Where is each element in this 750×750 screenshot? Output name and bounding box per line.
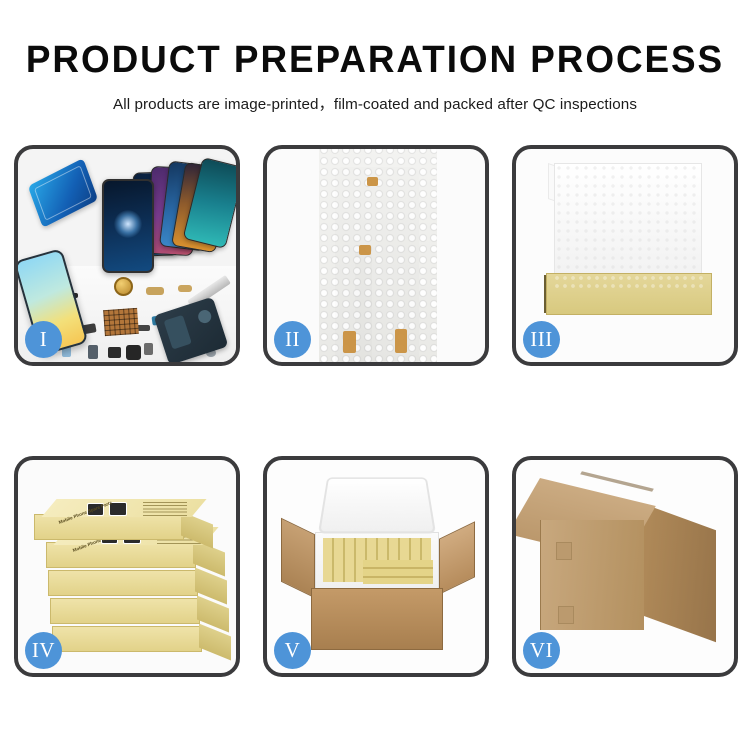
process-step-panel-1: I [14, 145, 240, 366]
spare-part [126, 345, 141, 360]
spare-part [88, 345, 98, 359]
step-badge-2: II [274, 321, 311, 358]
step-badge-4: IV [25, 632, 62, 669]
kraft-inner-box [546, 273, 712, 315]
retail-box [48, 570, 198, 596]
carton-tape-tab [558, 606, 574, 624]
tape-strip [343, 331, 356, 353]
spare-part [144, 343, 153, 355]
process-step-panel-5: V [263, 456, 489, 677]
page-subtitle: All products are image-printed，film-coat… [0, 92, 750, 114]
white-foam-lid [554, 163, 702, 277]
step-badge-6: VI [523, 632, 560, 669]
spare-part [108, 347, 121, 358]
foam-cooler-lid [318, 477, 436, 533]
process-step-panel-2: II [263, 145, 489, 366]
packed-retail-boxes [363, 560, 433, 584]
step-badge-3: III [523, 321, 560, 358]
carton-front-face [540, 520, 644, 630]
blue-protective-film [28, 158, 98, 228]
chip-grid-component [103, 308, 139, 336]
tape-strip [359, 245, 371, 255]
process-step-grid: I II III [14, 145, 738, 677]
tape-strip [367, 177, 378, 186]
retail-box: Mobile Phone Spare Parts [34, 514, 184, 540]
tempered-glass-screen [102, 179, 154, 273]
carton-side-face [644, 504, 716, 642]
process-step-panel-4: Mobile Phone Spare Parts Mobile Phone Sp… [14, 456, 240, 677]
process-step-panel-6: VI [512, 456, 738, 677]
process-step-panel-3: III [512, 145, 738, 366]
carton-tape-tab [556, 542, 572, 560]
retail-box [52, 626, 202, 652]
carton-flap-left [281, 518, 315, 599]
retail-box [50, 598, 200, 624]
bubble-wrap-bag [319, 149, 437, 362]
page-title: PRODUCT PREPARATION PROCESS [11, 41, 739, 81]
spare-part [146, 287, 164, 295]
step-badge-5: V [274, 632, 311, 669]
carton-flap-right [439, 521, 475, 595]
product-preparation-infographic: PRODUCT PREPARATION PROCESS All products… [0, 0, 750, 750]
spare-part [178, 285, 192, 292]
carton-seam [580, 471, 654, 491]
carton-body [311, 588, 443, 650]
gold-coil-component [114, 277, 133, 296]
lid-spec-lines [143, 502, 187, 518]
header: PRODUCT PREPARATION PROCESS All products… [0, 0, 750, 114]
tape-strip [395, 329, 407, 353]
step-badge-1: I [25, 321, 62, 358]
retail-box-stack: Mobile Phone Spare Parts Mobile Phone Sp… [28, 476, 234, 666]
retail-box: Mobile Phone Spare Parts [46, 542, 196, 568]
